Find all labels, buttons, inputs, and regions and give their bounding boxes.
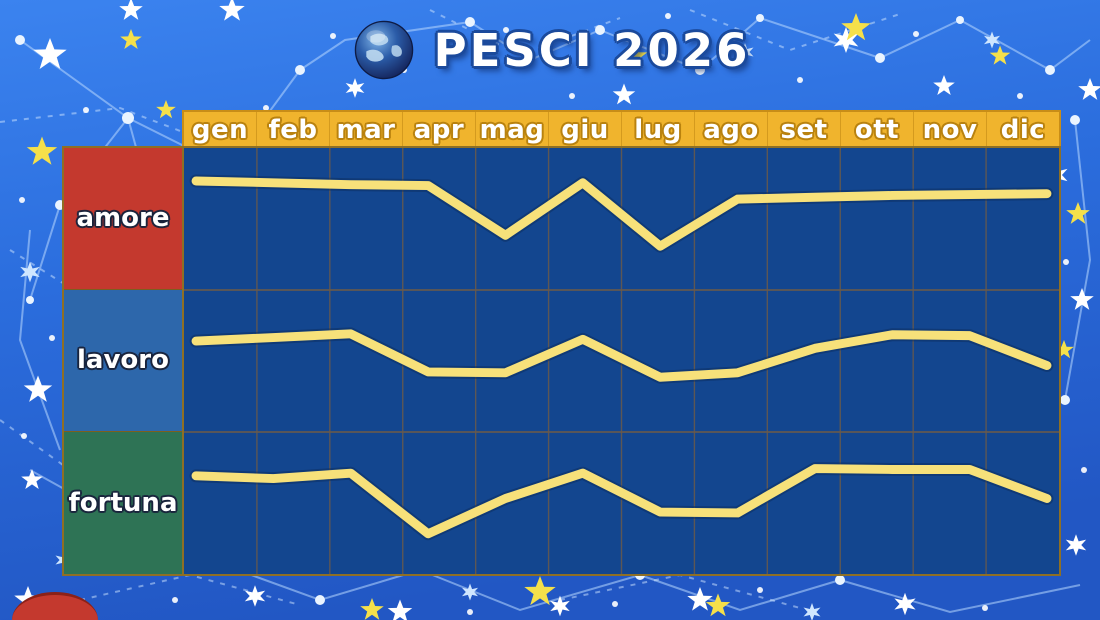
row-label-lavoro: lavoro	[64, 290, 182, 432]
month-header-set: set	[768, 112, 841, 147]
month-header-row: gen feb mar apr mag giu lug ago set ott …	[182, 110, 1061, 149]
month-header-mar: mar	[330, 112, 403, 147]
month-header-apr: apr	[403, 112, 476, 147]
chart-plot-area	[182, 146, 1061, 576]
horoscope-table: gen feb mar apr mag giu lug ago set ott …	[62, 110, 1061, 576]
month-header-lug: lug	[622, 112, 695, 147]
horoscope-screen: PESCI 2026 gen feb mar apr mag giu lug a…	[0, 0, 1100, 620]
month-header-gen: gen	[184, 112, 257, 147]
month-header-mag: mag	[476, 112, 549, 147]
category-label-column: amore lavoro fortuna	[62, 146, 184, 576]
month-header-nov: nov	[914, 112, 987, 147]
row-label-fortuna: fortuna	[64, 432, 182, 574]
chart-lines-svg	[184, 148, 1059, 574]
month-header-dic: dic	[987, 112, 1059, 147]
month-header-ott: ott	[841, 112, 914, 147]
row-label-amore: amore	[64, 148, 182, 290]
month-header-feb: feb	[257, 112, 330, 147]
month-header-ago: ago	[695, 112, 768, 147]
month-header-giu: giu	[549, 112, 622, 147]
